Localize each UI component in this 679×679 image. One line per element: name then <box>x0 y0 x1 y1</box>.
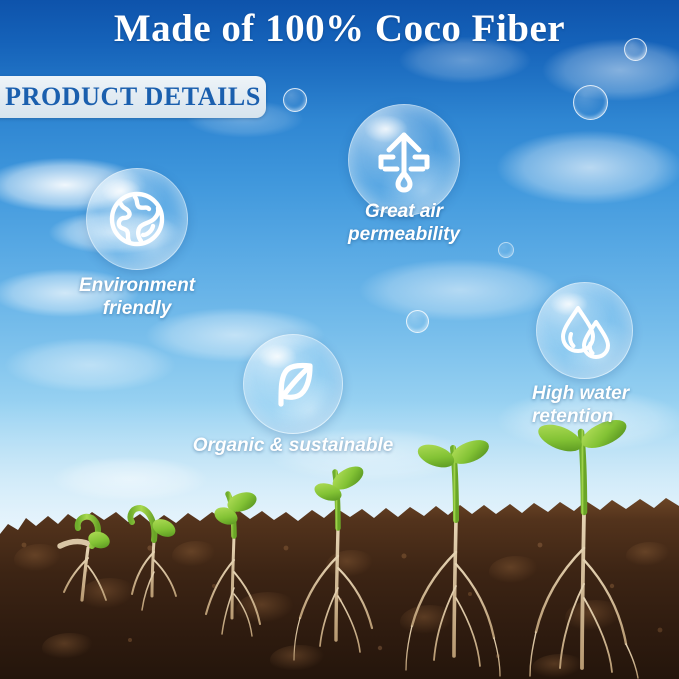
leaf-icon <box>263 354 323 414</box>
soil-speckles <box>22 543 663 658</box>
decorative-bubble <box>396 602 409 615</box>
decorative-bubble <box>283 88 307 112</box>
product-infographic: Made of 100% Coco Fiber PRODUCT DETAILS … <box>0 0 679 679</box>
decorative-bubble <box>498 242 514 258</box>
product-details-badge[interactable]: PRODUCT DETAILS <box>0 76 266 118</box>
page-title: Made of 100% Coco Fiber <box>0 6 679 51</box>
decorative-bubble <box>573 85 608 120</box>
soil-texture <box>14 541 674 679</box>
air-permeability-icon <box>369 125 439 195</box>
feature-bubble <box>536 282 633 379</box>
water-drops-icon <box>554 300 616 362</box>
decorative-bubble <box>468 608 480 620</box>
decorative-bubble <box>412 645 426 659</box>
globe-icon <box>105 187 169 251</box>
feature-label: High water retention <box>532 382 679 428</box>
decorative-bubble <box>406 310 429 333</box>
feature-bubble <box>86 168 188 270</box>
feature-bubble <box>243 334 343 434</box>
product-details-label: PRODUCT DETAILS <box>5 82 261 112</box>
feature-label: Environment friendly <box>50 274 224 320</box>
feature-label: Great air permeability <box>309 200 499 246</box>
feature-label: Organic & sustainable <box>163 434 423 457</box>
decorative-bubble <box>352 566 367 581</box>
